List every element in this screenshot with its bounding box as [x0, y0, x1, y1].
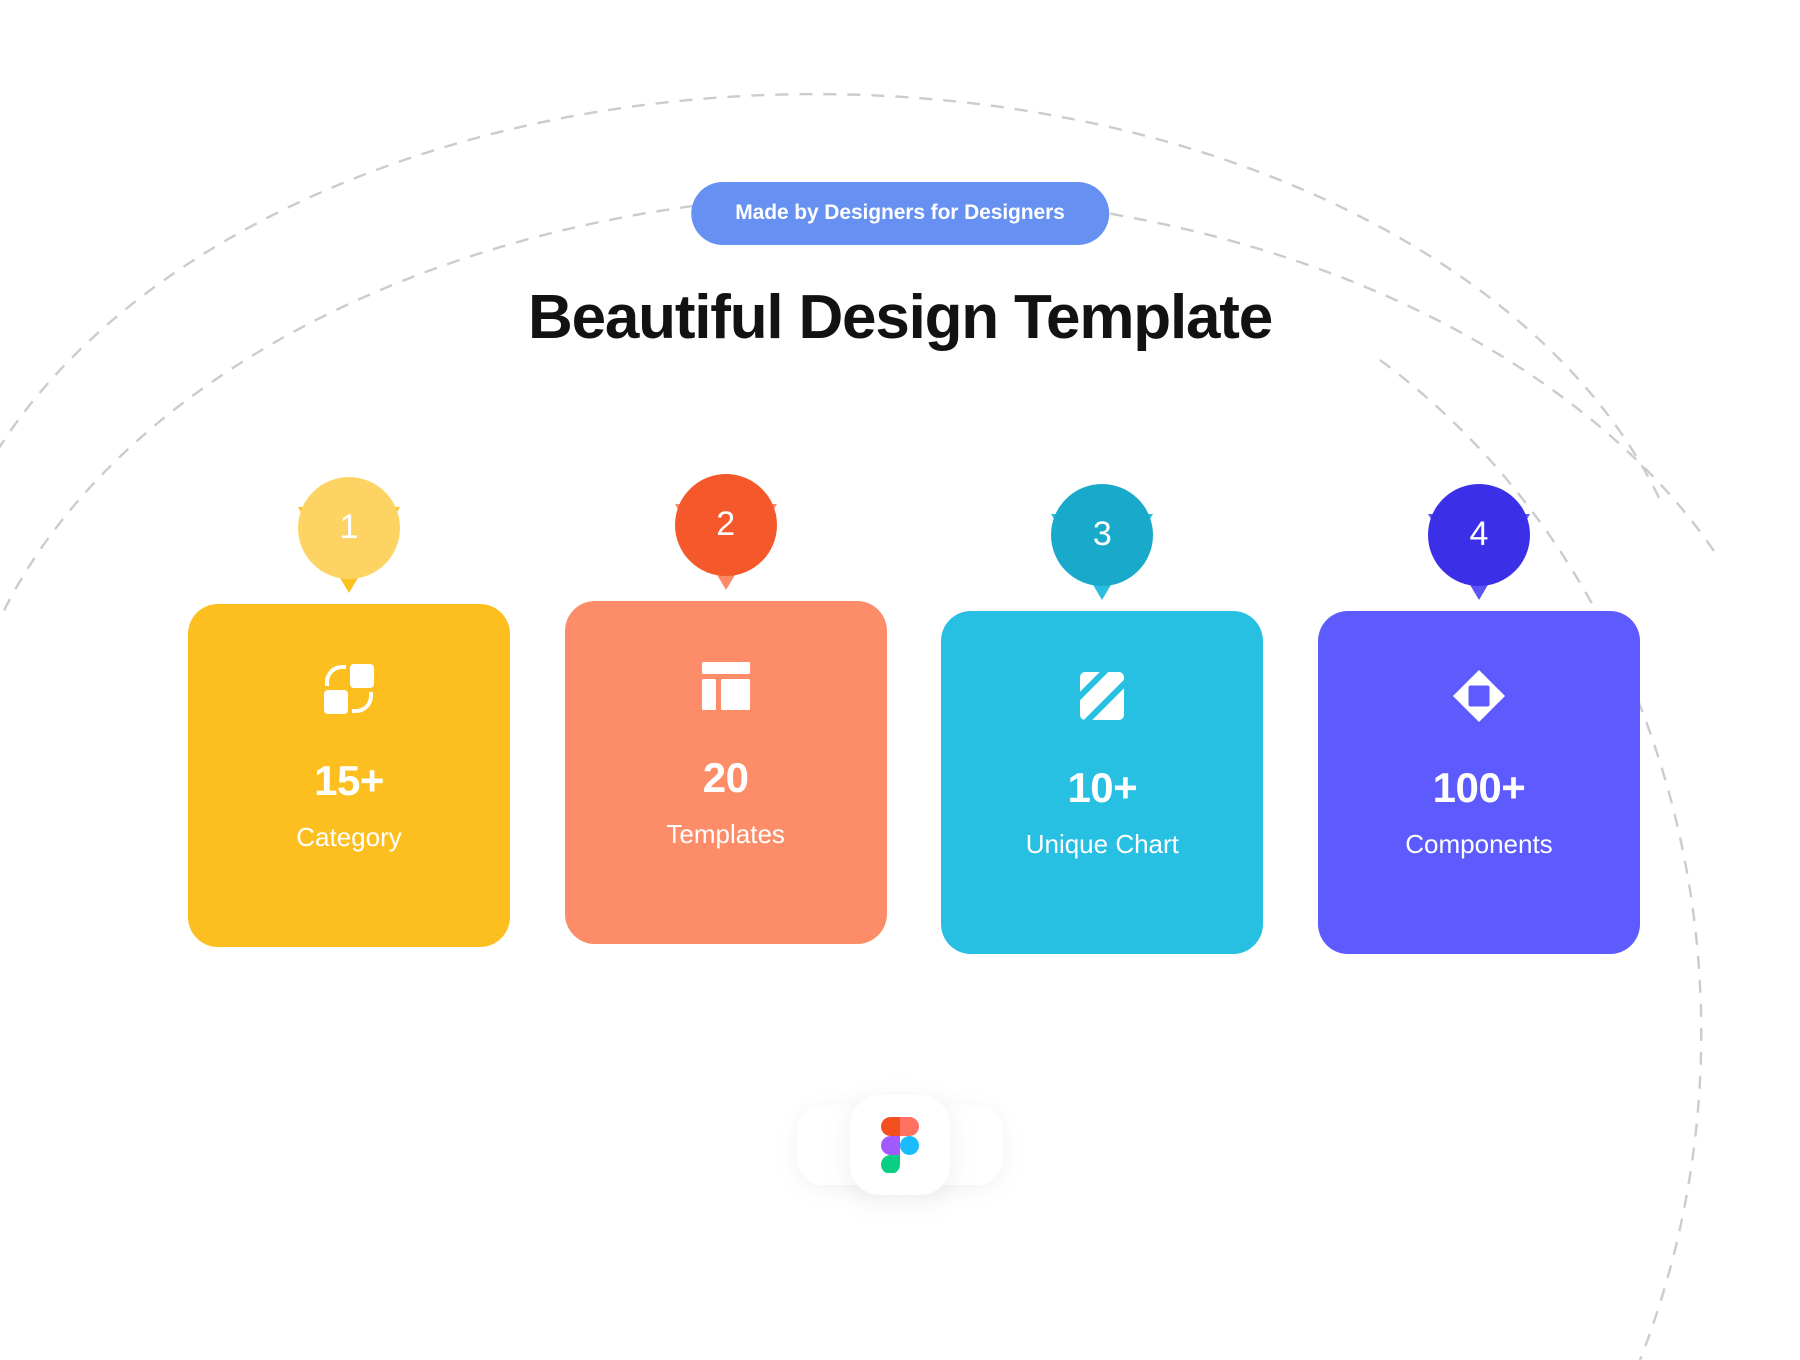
four-quadrant-icon [320, 660, 378, 718]
diamond-component-icon [1450, 667, 1508, 725]
made-by-designers-badge[interactable]: Made by Designers for Designers [691, 182, 1109, 245]
pin-head-circle: 1 [298, 477, 400, 579]
pin-marker-2: 2 [675, 474, 777, 590]
pin-number-label: 3 [1051, 484, 1153, 586]
stat-card-unique-chart[interactable]: 3 10+ Unique Chart [941, 611, 1263, 954]
stat-card-category[interactable]: 1 15+ Category [188, 604, 510, 947]
diagonal-stripes-icon [1073, 667, 1131, 725]
stat-card-templates[interactable]: 2 20 Templates [565, 601, 887, 944]
layout-grid-icon [697, 657, 755, 715]
card-value: 100+ [1433, 767, 1526, 809]
pin-marker-4: 4 [1428, 484, 1530, 600]
pin-marker-1: 1 [298, 477, 400, 593]
card-label: Unique Chart [1026, 831, 1179, 857]
card-value: 20 [703, 757, 749, 799]
pin-head-circle: 4 [1428, 484, 1530, 586]
card-label: Category [296, 824, 402, 850]
card-value: 10+ [1067, 767, 1137, 809]
pin-marker-3: 3 [1051, 484, 1153, 600]
page-title: Beautiful Design Template [528, 282, 1272, 353]
pin-head-circle: 3 [1051, 484, 1153, 586]
card-value: 15+ [314, 760, 384, 802]
card-label: Components [1405, 831, 1552, 857]
stat-cards-row: 1 15+ Category 2 [188, 604, 1640, 954]
stat-card-components[interactable]: 4 100+ Components [1318, 611, 1640, 954]
figma-logo [881, 1117, 919, 1173]
pin-number-label: 1 [298, 477, 400, 579]
figma-logo-group [797, 1095, 1003, 1195]
pin-number-label: 2 [675, 474, 777, 576]
pin-number-label: 4 [1428, 484, 1530, 586]
pin-head-circle: 2 [675, 474, 777, 576]
card-label: Templates [666, 821, 785, 847]
